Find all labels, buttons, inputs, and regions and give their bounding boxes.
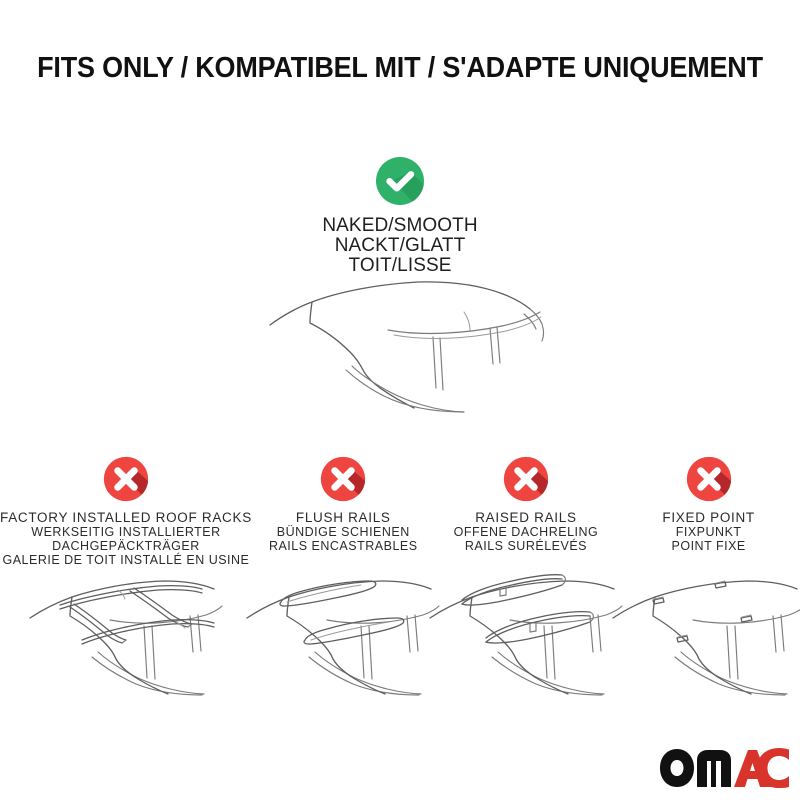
incompatible-item-flush-rails: FLUSH RAILS BÜNDIGE SCHIENEN RAILS ENCAS…: [252, 455, 435, 553]
label-de-1: BÜNDIGE SCHIENEN: [252, 525, 435, 539]
incompatible-labels: FACTORY INSTALLED ROOF RACKS WERKSEITIG …: [0, 510, 252, 567]
raised-rails-roof-illustration: [426, 560, 626, 695]
label-de-1: OFFENE DACHRELING: [435, 525, 618, 539]
page-title: FITS ONLY / KOMPATIBEL MIT / S'ADAPTE UN…: [28, 52, 772, 85]
label-de-1: WERKSEITIG INSTALLIERTER: [0, 525, 252, 539]
x-circle-icon: [102, 455, 150, 503]
incompatible-item-raised-rails: RAISED RAILS OFFENE DACHRELING RAILS SUR…: [435, 455, 618, 553]
smooth-roof-illustration: [268, 278, 558, 413]
incompatible-item-factory-installed-roof-racks: FACTORY INSTALLED ROOF RACKS WERKSEITIG …: [0, 455, 252, 567]
incompatible-labels: RAISED RAILS OFFENE DACHRELING RAILS SUR…: [435, 510, 618, 553]
label-fr: RAILS SURÉLEVÉS: [435, 539, 618, 553]
omac-wordmark: [658, 748, 790, 788]
label-en: FIXED POINT: [617, 510, 800, 525]
x-circle-icon: [319, 455, 367, 503]
check-circle-icon: [374, 155, 426, 207]
omac-logo: [658, 748, 790, 788]
incompatible-section: FACTORY INSTALLED ROOF RACKS WERKSEITIG …: [0, 455, 800, 705]
incompatible-labels: FLUSH RAILS BÜNDIGE SCHIENEN RAILS ENCAS…: [252, 510, 435, 553]
label-en: FACTORY INSTALLED ROOF RACKS: [0, 510, 252, 525]
roof-with-crossbars-illustration: [26, 560, 226, 695]
label-fr: RAILS ENCASTRABLES: [252, 539, 435, 553]
fixed-point-roof-illustration: [609, 560, 800, 695]
label-de-2: DACHGEPÄCKTRÄGER: [0, 539, 252, 553]
label-en: RAISED RAILS: [435, 510, 618, 525]
compatible-label-fr: TOIT/LISSE: [0, 256, 800, 276]
label-en: FLUSH RAILS: [252, 510, 435, 525]
incompatible-item-fixed-point: FIXED POINT FIXPUNKT POINT FIXE: [617, 455, 800, 553]
label-fr: POINT FIXE: [617, 539, 800, 553]
compatible-labels: NAKED/SMOOTH NACKT/GLATT TOIT/LISSE: [0, 216, 800, 276]
label-de-1: FIXPUNKT: [617, 525, 800, 539]
incompatible-labels: FIXED POINT FIXPUNKT POINT FIXE: [617, 510, 800, 553]
x-circle-icon: [502, 455, 550, 503]
flush-rails-roof-illustration: [243, 560, 443, 695]
compatible-label-en: NAKED/SMOOTH: [0, 216, 800, 236]
compatible-section: NAKED/SMOOTH NACKT/GLATT TOIT/LISSE: [0, 155, 800, 276]
compatible-label-de: NACKT/GLATT: [0, 236, 800, 256]
x-circle-icon: [685, 455, 733, 503]
